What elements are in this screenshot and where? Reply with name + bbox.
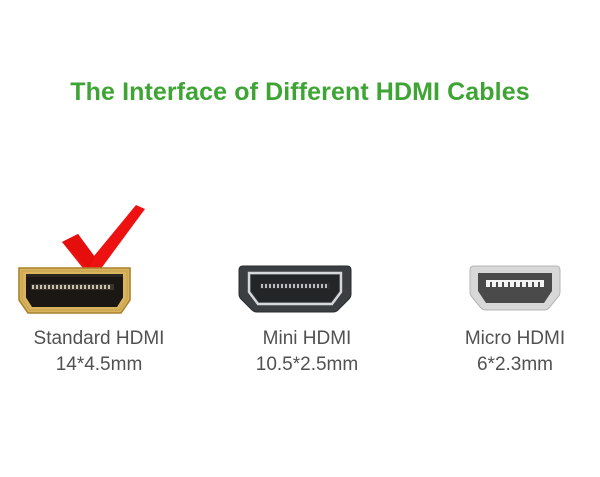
mini-hdmi-illustration (214, 196, 400, 326)
page-title: The Interface of Different HDMI Cables (0, 78, 600, 107)
connector-card-micro-hdmi[interactable]: Micro HDMI 6*2.3mm (430, 196, 600, 396)
micro-hdmi-dimensions: 6*2.3mm (430, 352, 600, 378)
mini-hdmi-shell (239, 266, 351, 312)
standard-hdmi-caption: Standard HDMI 14*4.5mm (4, 326, 194, 378)
check-mark-icon (62, 205, 145, 272)
micro-hdmi-caption: Micro HDMI 6*2.3mm (430, 326, 600, 378)
micro-hdmi-shell (470, 266, 560, 310)
micro-hdmi-name: Micro HDMI (465, 328, 565, 349)
mini-hdmi-pins (261, 284, 327, 288)
standard-hdmi-dimensions: 14*4.5mm (4, 352, 194, 378)
standard-hdmi-illustration (4, 196, 194, 326)
standard-hdmi-shell (19, 268, 130, 313)
mini-hdmi-caption: Mini HDMI 10.5*2.5mm (214, 326, 400, 378)
connector-row: Standard HDMI 14*4.5mm (0, 196, 600, 396)
standard-hdmi-name: Standard HDMI (34, 328, 165, 349)
connector-card-standard-hdmi[interactable]: Standard HDMI 14*4.5mm (4, 196, 194, 396)
micro-hdmi-illustration (430, 196, 600, 326)
mini-hdmi-name: Mini HDMI (263, 328, 352, 349)
mini-hdmi-dimensions: 10.5*2.5mm (214, 352, 400, 378)
connector-card-mini-hdmi[interactable]: Mini HDMI 10.5*2.5mm (214, 196, 400, 396)
